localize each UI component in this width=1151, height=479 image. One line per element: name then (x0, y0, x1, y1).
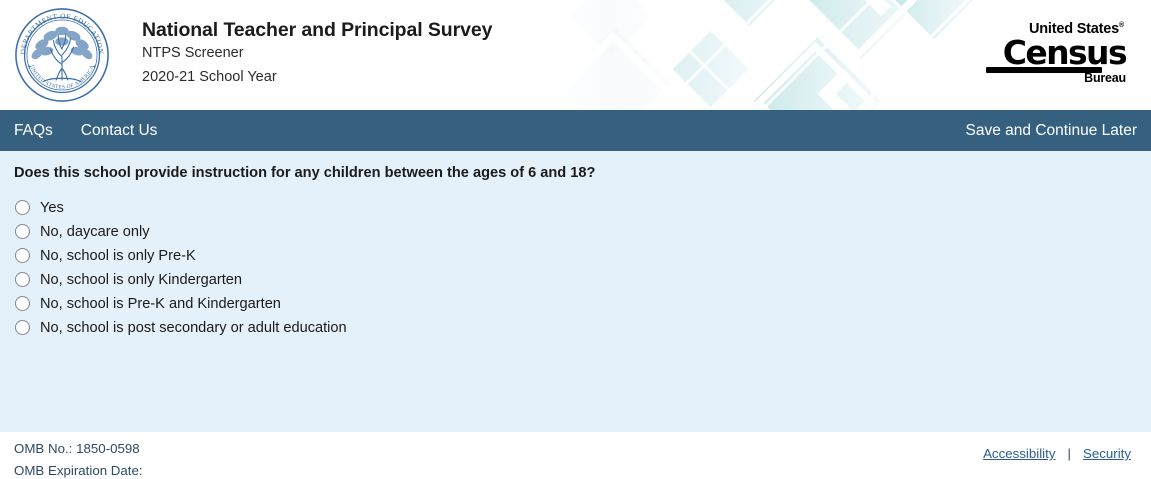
radio-option-label: No, school is post secondary or adult ed… (40, 321, 347, 336)
census-bureau-logo: United States® Census Bureau (986, 22, 1126, 83)
question-text: Does this school provide instruction for… (14, 151, 1137, 183)
save-and-continue-later-link[interactable]: Save and Continue Later (966, 122, 1137, 139)
nav-link-faqs[interactable]: FAQs (14, 123, 53, 139)
nav-link-contact-us[interactable]: Contact Us (81, 123, 158, 139)
footer-link-separator: | (1067, 446, 1070, 461)
omb-number: OMB No.: 1850-0598 (14, 438, 143, 460)
radio-button-icon[interactable] (15, 248, 30, 263)
census-logo-line2: Census (986, 38, 1126, 68)
header-pattern-fade (491, 0, 751, 110)
census-logo-line3: Bureau (1084, 71, 1126, 85)
survey-content: Does this school provide instruction for… (0, 151, 1151, 432)
census-logo-line1: United States (1029, 21, 1119, 37)
page-title: National Teacher and Principal Survey (142, 18, 492, 42)
security-link[interactable]: Security (1083, 446, 1131, 461)
radio-option-label: Yes (40, 201, 64, 216)
page-root: DEPARTMENT OF EDUCATION UNITED STATES OF… (0, 0, 1151, 479)
school-year: 2020-21 School Year (142, 66, 492, 89)
header-titles: National Teacher and Principal Survey NT… (142, 18, 492, 89)
omb-expiration-date: OMB Expiration Date: (14, 460, 143, 479)
accessibility-link[interactable]: Accessibility (983, 446, 1055, 461)
registered-mark: ® (1119, 22, 1124, 29)
site-header: DEPARTMENT OF EDUCATION UNITED STATES OF… (0, 0, 1151, 110)
site-footer: OMB No.: 1850-0598 OMB Expiration Date: … (0, 432, 1151, 479)
radio-option-prek-and-kindergarten[interactable]: No, school is Pre-K and Kindergarten (14, 292, 1137, 316)
radio-button-icon[interactable] (15, 200, 30, 215)
radio-button-icon[interactable] (15, 224, 30, 239)
radio-option-group: Yes No, daycare only No, school is only … (14, 196, 1137, 340)
radio-option-only-prek[interactable]: No, school is only Pre-K (14, 244, 1137, 268)
nav-right-group: Save and Continue Later (966, 122, 1137, 140)
radio-option-label: No, school is Pre-K and Kindergarten (40, 297, 281, 312)
survey-name: NTPS Screener (142, 42, 492, 65)
nav-links-group: FAQs Contact Us (14, 123, 157, 139)
radio-button-icon[interactable] (15, 320, 30, 335)
radio-option-label: No, daycare only (40, 225, 150, 240)
radio-option-yes[interactable]: Yes (14, 196, 1137, 220)
radio-option-only-kindergarten[interactable]: No, school is only Kindergarten (14, 268, 1137, 292)
department-of-education-seal-icon: DEPARTMENT OF EDUCATION UNITED STATES OF… (14, 7, 110, 103)
radio-option-label: No, school is only Kindergarten (40, 273, 242, 288)
radio-option-label: No, school is only Pre-K (40, 249, 196, 264)
navigation-bar: FAQs Contact Us Save and Continue Later (0, 110, 1151, 151)
radio-button-icon[interactable] (15, 272, 30, 287)
omb-info: OMB No.: 1850-0598 OMB Expiration Date: (14, 438, 143, 479)
radio-option-daycare-only[interactable]: No, daycare only (14, 220, 1137, 244)
radio-button-icon[interactable] (15, 296, 30, 311)
radio-option-post-secondary-or-adult[interactable]: No, school is post secondary or adult ed… (14, 316, 1137, 340)
footer-links: Accessibility | Security (983, 446, 1131, 461)
